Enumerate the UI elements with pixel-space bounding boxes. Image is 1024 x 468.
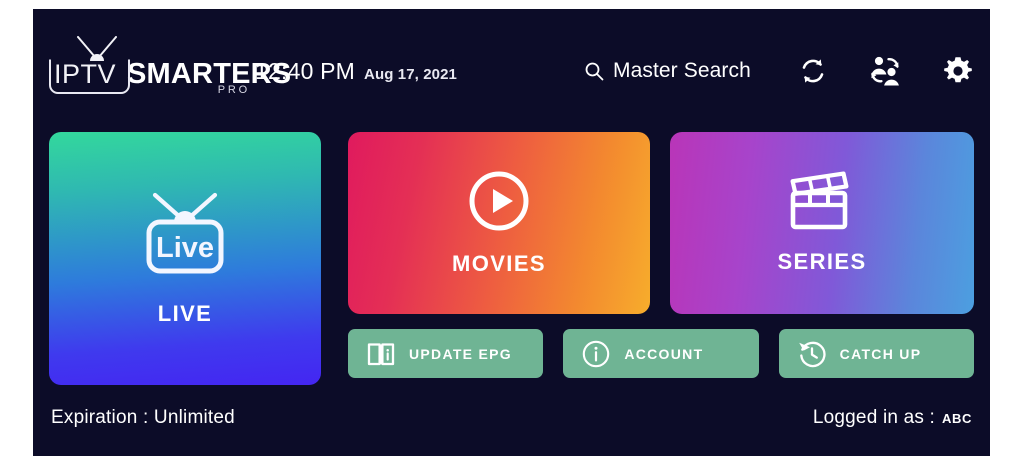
tile-movies[interactable]: MOVIES xyxy=(348,132,650,314)
app-root: IPTV SMARTERS PRO 12:40 PM Aug 17, 2021 … xyxy=(33,9,990,456)
logged-in-username: ABC xyxy=(942,411,972,426)
app-footer: Expiration : Unlimited Logged in as : AB… xyxy=(33,397,990,456)
master-search-label: Master Search xyxy=(613,59,751,83)
header-icon-group xyxy=(798,55,974,87)
update-epg-button[interactable]: UPDATE EPG xyxy=(348,329,543,378)
tile-live[interactable]: Live LIVE xyxy=(49,132,321,385)
epg-book-icon xyxy=(367,341,395,367)
master-search-button[interactable]: Master Search xyxy=(584,59,751,83)
current-time: 12:40 PM xyxy=(255,58,355,85)
quick-action-bar: UPDATE EPG ACCOUNT CATCH UP xyxy=(348,329,974,378)
svg-text:Live: Live xyxy=(156,232,214,264)
tile-movies-label: MOVIES xyxy=(452,251,546,277)
switch-user-icon[interactable] xyxy=(868,55,902,87)
tile-series[interactable]: SERIES xyxy=(670,132,974,314)
account-button[interactable]: ACCOUNT xyxy=(563,329,758,378)
catch-up-button[interactable]: CATCH UP xyxy=(779,329,974,378)
refresh-icon[interactable] xyxy=(798,56,828,86)
history-clock-icon xyxy=(798,340,826,368)
header-datetime: 12:40 PM Aug 17, 2021 xyxy=(255,58,457,85)
current-date: Aug 17, 2021 xyxy=(364,66,457,83)
expiration-status: Expiration : Unlimited xyxy=(51,407,235,429)
settings-gear-icon[interactable] xyxy=(942,55,974,87)
logo-iptv-box: IPTV xyxy=(48,58,125,91)
tile-series-label: SERIES xyxy=(777,249,866,275)
catch-up-label: CATCH UP xyxy=(840,346,922,362)
logo-iptv-text: IPTV xyxy=(54,59,116,89)
logged-in-status: Logged in as : ABC xyxy=(813,407,972,429)
app-logo: IPTV SMARTERS PRO xyxy=(48,36,256,94)
account-label: ACCOUNT xyxy=(624,346,703,362)
app-header: IPTV SMARTERS PRO 12:40 PM Aug 17, 2021 … xyxy=(33,9,990,112)
logo-pro-text: PRO xyxy=(218,84,250,96)
tile-live-label: LIVE xyxy=(158,301,213,327)
update-epg-label: UPDATE EPG xyxy=(409,346,512,362)
info-circle-icon xyxy=(582,340,610,368)
play-circle-icon xyxy=(467,169,531,233)
search-icon xyxy=(584,61,604,81)
live-tv-icon: Live xyxy=(139,191,231,275)
logged-in-label: Logged in as : xyxy=(813,407,935,429)
clapperboard-icon xyxy=(788,171,856,233)
